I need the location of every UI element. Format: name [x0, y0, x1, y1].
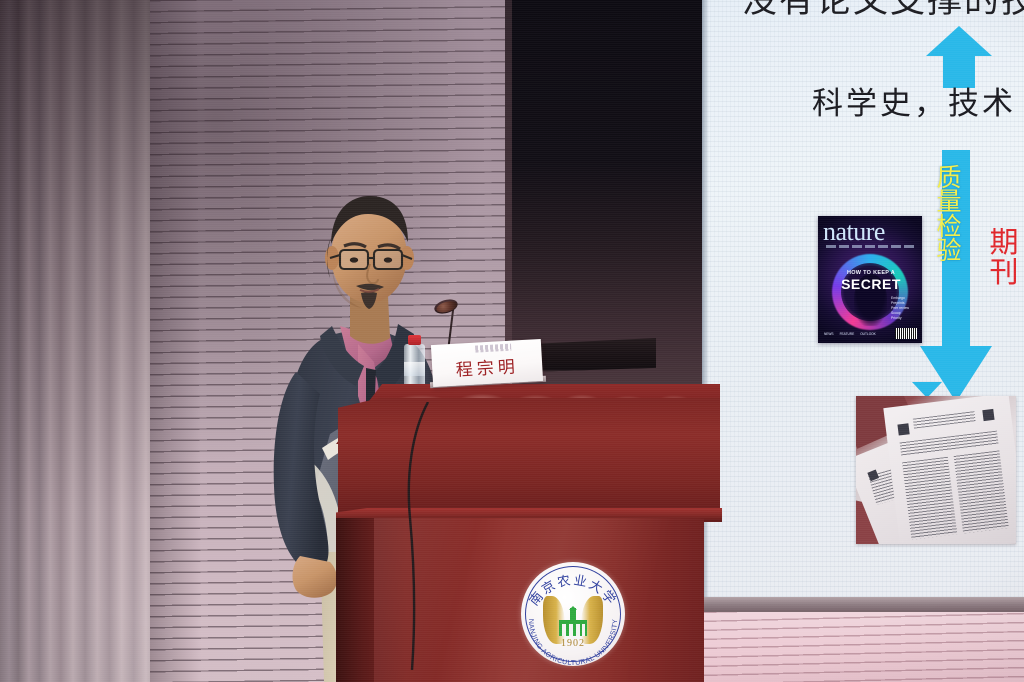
nature-tagline-rule — [826, 245, 914, 248]
seal-year: 1902 — [521, 638, 625, 649]
paper-qr-mark — [897, 423, 909, 435]
nature-wordmark: nature — [823, 219, 917, 245]
barcode-icon — [895, 328, 917, 339]
speaker-nameplate: 程宗明 — [431, 339, 543, 387]
nature-cover-blurbs: Embargo Preprints Peer review Scoop Prio… — [891, 296, 917, 322]
slide-heading: 没有论文支撑的技 — [742, 0, 1024, 23]
journal-label: 期刊 — [989, 228, 1019, 287]
quality-check-label: 质量检验 — [933, 166, 965, 263]
microphone-cable — [372, 402, 484, 670]
blurb-line: Priority — [891, 316, 917, 321]
right-eye — [384, 257, 392, 262]
footer-blurb: NEWS — [824, 332, 834, 337]
bottle-cap — [408, 335, 421, 345]
bottle-label — [404, 362, 425, 376]
nameplate-org-mark — [475, 344, 511, 353]
paper-column-right — [954, 450, 1009, 533]
paper-column-left — [902, 457, 957, 540]
presentation-photo: 没有论文支撑的技 科学史，技术 质量检验 期刊 nature HOW TO KE… — [0, 0, 1024, 682]
paper-title-block — [913, 411, 976, 428]
nameplate-name: 程宗明 — [432, 351, 543, 382]
seal-building-icon — [555, 606, 591, 636]
svg-text:南京农业大学: 南京农业大学 — [526, 573, 620, 609]
seal-cn-label: 南京农业大学 — [526, 573, 620, 609]
curtain-shading — [0, 0, 152, 682]
footer-blurb: FEATURE — [840, 332, 855, 337]
footer-blurb: OUTLOOK — [860, 332, 876, 337]
manuscripts-photo — [856, 396, 1016, 544]
nature-cover-headline: SECRET — [838, 276, 904, 292]
left-eye — [350, 257, 358, 262]
slide-subheading: 科学史，技术 — [812, 78, 1016, 123]
nature-magazine-cover: nature HOW TO KEEP A SECRET Embargo Prep… — [818, 216, 922, 343]
university-seal: 南京农业大学 NANJING AGRICULTURAL UNIVERSITY 1… — [521, 562, 625, 666]
paper-qr-mark — [982, 409, 994, 421]
dark-wall-column — [512, 0, 708, 400]
paper-sheet — [883, 396, 1016, 544]
lower-slatted-wall — [690, 612, 1024, 682]
stage-curtain — [0, 0, 152, 682]
